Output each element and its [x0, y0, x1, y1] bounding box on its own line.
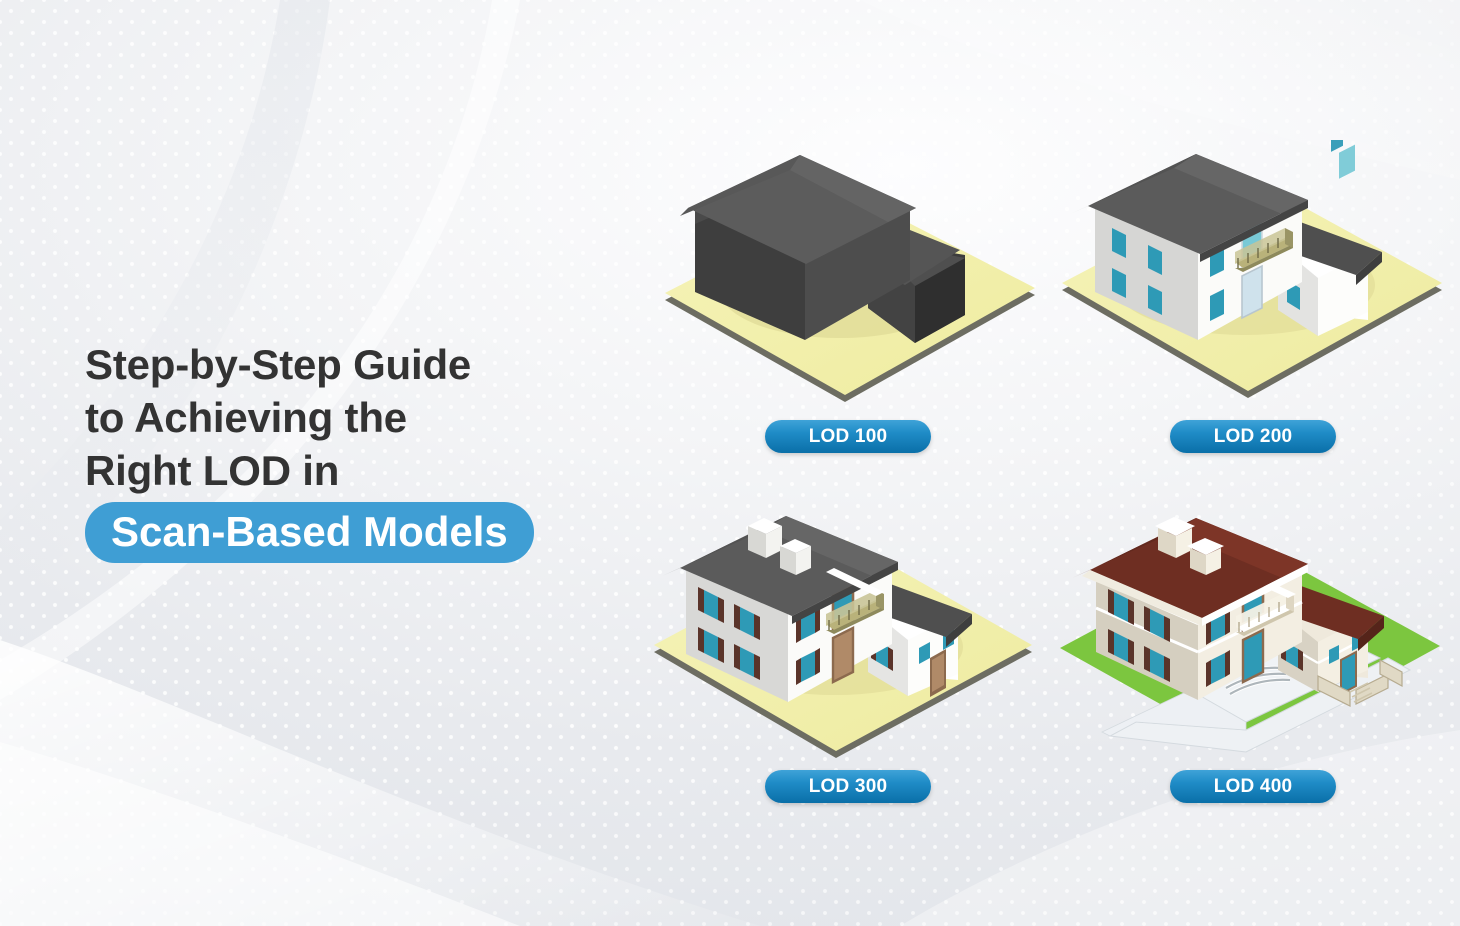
lod-100-svg: [640, 140, 1040, 410]
lod-200-badge[interactable]: LOD 200: [1170, 420, 1336, 453]
title-line-3: Right LOD in: [85, 444, 645, 497]
lod-100-illustration: [640, 140, 1040, 410]
title-highlight-pill: Scan-Based Models: [85, 502, 534, 563]
lod-400-badge[interactable]: LOD 400: [1170, 770, 1336, 803]
lod-200-svg: [1050, 140, 1450, 410]
lod-400-svg: [1050, 500, 1450, 770]
poster-canvas: Step-by-Step Guide to Achieving the Righ…: [0, 0, 1460, 926]
page-title: Step-by-Step Guide to Achieving the Righ…: [85, 338, 645, 563]
lod-100-badge[interactable]: LOD 100: [765, 420, 931, 453]
lod-200-illustration: [1050, 140, 1450, 410]
lod-300-illustration: [640, 500, 1040, 770]
lod-400-illustration: [1050, 500, 1450, 770]
title-line-2: to Achieving the: [85, 391, 645, 444]
lod-300-badge[interactable]: LOD 300: [765, 770, 931, 803]
title-line-1: Step-by-Step Guide: [85, 338, 645, 391]
chimney-left: [748, 518, 782, 558]
chimney-right: [780, 539, 811, 575]
lod-300-svg: [640, 500, 1040, 770]
